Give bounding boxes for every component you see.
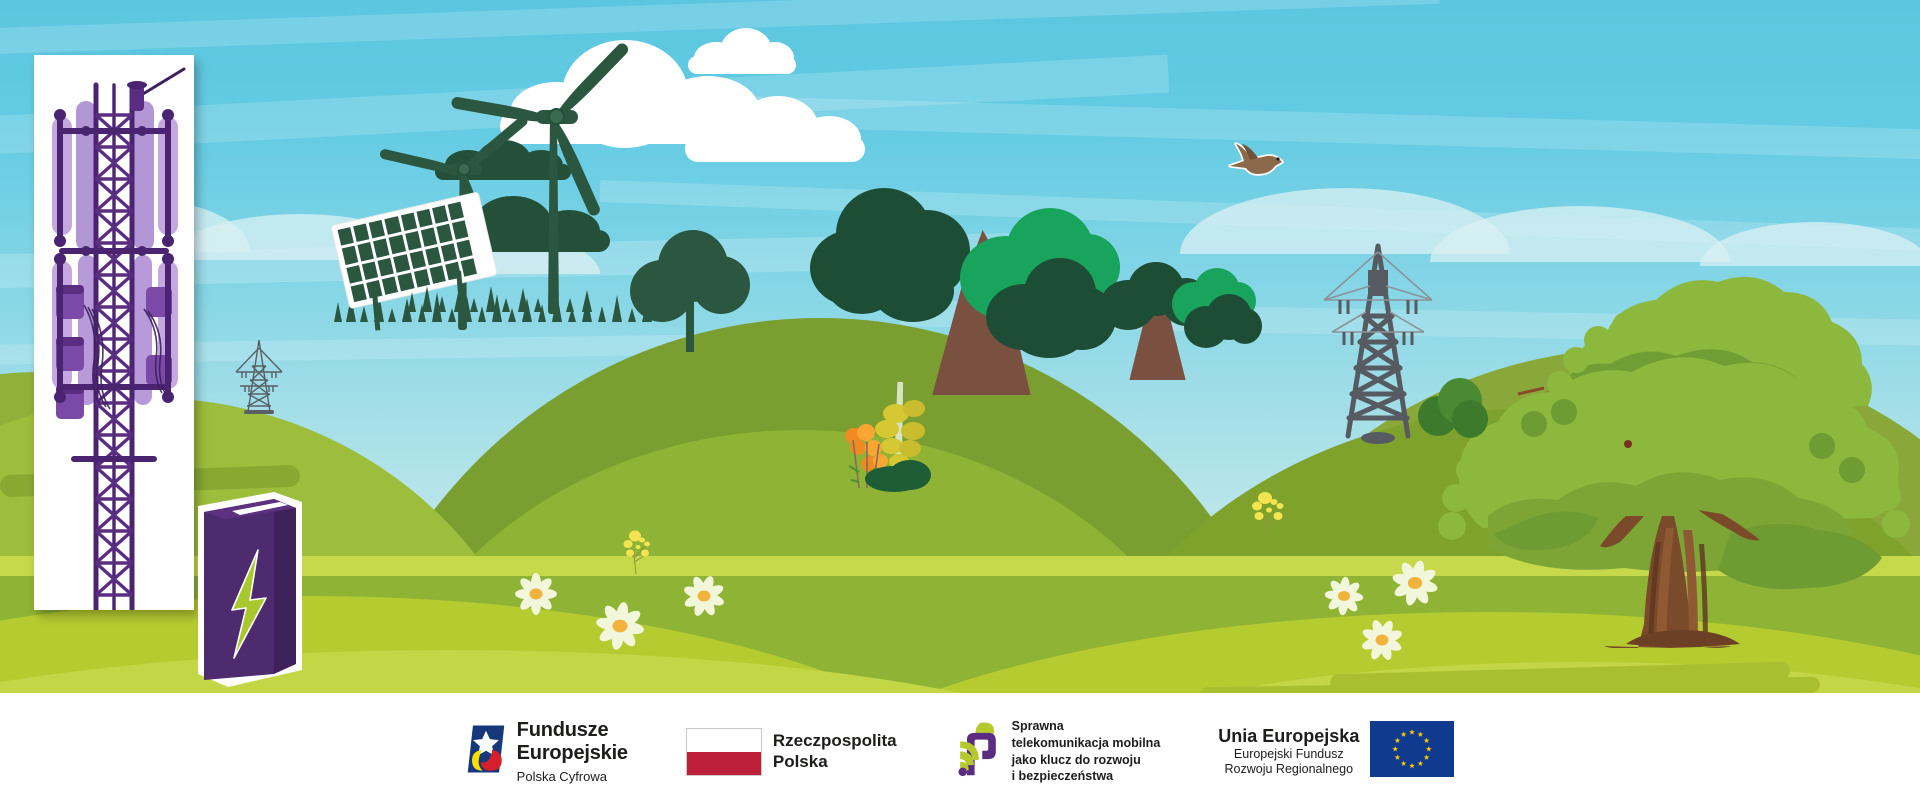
logo-ue-text: Unia Europejska Europejski Fundusz Rozwo…	[1218, 726, 1359, 777]
logo-rp-title-1: Rzeczpospolita	[773, 731, 897, 751]
flower-bush-cluster	[845, 382, 985, 492]
bush-left-of-oak	[1418, 378, 1488, 446]
mobile-signal-leaf-icon	[955, 721, 1001, 782]
cloud	[685, 92, 865, 162]
daisy-flower	[583, 589, 657, 663]
logo-sprawna-line-4: i bezpieczeństwa	[1012, 768, 1161, 785]
logo-rzeczpospolita-polska: Rzeczpospolita Polska	[686, 728, 897, 776]
logo-sprawna-line-1: Sprawna	[1012, 718, 1161, 735]
logo-fe-title-1: Fundusze	[517, 719, 628, 742]
transmission-pylon-far	[228, 338, 290, 414]
tree-dark-right-small2	[1184, 294, 1262, 352]
logo-fundusze-europejskie: Fundusze Europejskie Polska Cyfrowa	[466, 719, 628, 783]
daisy-flower	[1381, 549, 1449, 617]
logo-sprawna-line-2: telekomunikacja mobilna	[1012, 735, 1161, 752]
power-cabinet	[196, 492, 304, 687]
logo-rp-text: Rzeczpospolita Polska	[773, 731, 897, 771]
logo-fe-title-2: Europejskie	[517, 742, 628, 765]
daisy-flower	[676, 568, 732, 624]
logo-rp-title-2: Polska	[773, 752, 897, 772]
grass-tufts-solar	[404, 282, 604, 312]
oak-tree	[1430, 248, 1920, 648]
tree-dark-center	[986, 258, 1116, 364]
yellow-flower	[620, 528, 656, 574]
logo-fe-subtitle: Polska Cyfrowa	[517, 769, 628, 784]
logo-sprawna-telekomunikacja: Sprawna telekomunikacja mobilna jako klu…	[955, 718, 1161, 786]
page-root: Fundusze Europejskie Polska Cyfrowa Rzec…	[0, 0, 1920, 810]
polish-flag-icon	[686, 728, 762, 776]
tree-left-round	[630, 230, 750, 342]
logo-fundusze-europejskie-text: Fundusze Europejskie Polska Cyfrowa	[517, 719, 628, 783]
tree-dark-left	[810, 182, 970, 332]
eu-funding-logo-bar: Fundusze Europejskie Polska Cyfrowa Rzec…	[0, 693, 1920, 810]
daisy-flower	[508, 566, 564, 622]
logo-sprawna-text: Sprawna telekomunikacja mobilna jako klu…	[1012, 718, 1161, 786]
eu-flag-icon	[1370, 721, 1454, 782]
logo-ue-title: Unia Europejska	[1218, 726, 1359, 747]
daisy-flower	[1354, 612, 1410, 668]
logo-unia-europejska: Unia Europejska Europejski Fundusz Rozwo…	[1218, 721, 1454, 782]
landscape-illustration	[0, 0, 1920, 693]
logo-ue-subtitle-2: Rozwoju Regionalnego	[1218, 762, 1359, 777]
bird-icon	[1228, 142, 1290, 184]
cell-tower-icon	[34, 55, 194, 610]
fundusze-europejskie-flag-icon	[466, 723, 506, 780]
logo-sprawna-line-3: jako klucz do rozwoju	[1012, 752, 1161, 769]
logo-ue-subtitle-1: Europejski Fundusz	[1218, 747, 1359, 762]
yellow-flower	[1248, 488, 1290, 544]
cloud	[688, 28, 796, 74]
